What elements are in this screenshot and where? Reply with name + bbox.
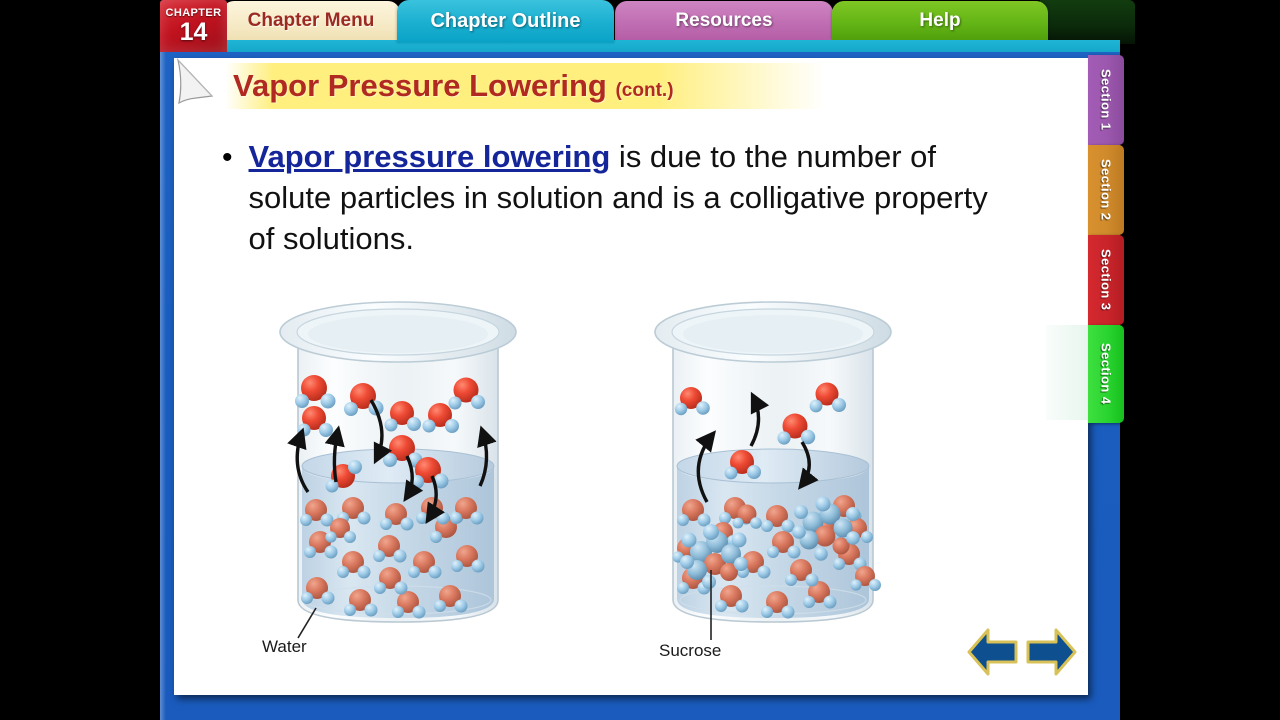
top-tab-bar: CHAPTER 14 Chapter Menu Chapter Outline … (160, 0, 1120, 44)
tab-help-label: Help (919, 10, 960, 32)
tab-chapter-menu[interactable]: Chapter Menu (222, 1, 400, 41)
bullet-keyword: Vapor pressure lowering (249, 139, 611, 174)
tab-resources-label: Resources (675, 10, 772, 32)
slide-navigation (966, 626, 1078, 678)
slide-title-block: Vapor Pressure Lowering (cont.) (225, 63, 825, 109)
bullet-text: Vapor pressure lowering is due to the nu… (249, 136, 1012, 259)
sidebar-item-section-3-label: Section 3 (1099, 249, 1114, 310)
page-title-suffix: (cont.) (615, 80, 673, 101)
water-label: Water (262, 637, 307, 656)
presentation-viewer: CHAPTER 14 Chapter Menu Chapter Outline … (0, 0, 1280, 720)
tab-help[interactable]: Help (832, 1, 1048, 41)
beaker-diagram-svg: Water (250, 270, 970, 670)
tab-resources[interactable]: Resources (615, 1, 833, 41)
sidebar-item-section-1-label: Section 1 (1099, 69, 1114, 130)
active-section-highlight-panel (1046, 325, 1090, 420)
left-beaker-group: Water (262, 302, 516, 656)
tabbar-right-filler (1040, 0, 1135, 44)
sidebar-item-section-1[interactable]: Section 1 (1088, 55, 1124, 145)
bullet-list-item: • Vapor pressure lowering is due to the … (222, 136, 1012, 259)
page-title-main: Vapor Pressure Lowering (233, 68, 607, 103)
previous-slide-button[interactable] (969, 630, 1016, 674)
sucrose-label: Sucrose (659, 641, 721, 660)
chapter-badge: CHAPTER 14 (160, 0, 227, 52)
bullet-marker-icon: • (222, 138, 233, 178)
chapter-badge-word: CHAPTER (166, 8, 222, 19)
page-curl-icon (176, 58, 216, 104)
next-slide-button[interactable] (1028, 630, 1075, 674)
sidebar-item-section-2[interactable]: Section 2 (1088, 145, 1124, 235)
tab-chapter-outline-label: Chapter Outline (430, 10, 580, 33)
chapter-badge-number: 14 (180, 20, 208, 45)
water-label-leader (298, 608, 316, 638)
right-beaker-group: Sucrose (655, 302, 891, 660)
sidebar-item-section-3[interactable]: Section 3 (1088, 235, 1124, 325)
sidebar-item-section-4-label: Section 4 (1099, 343, 1114, 404)
tab-chapter-menu-label: Chapter Menu (248, 10, 375, 32)
beaker-diagram: Water (250, 270, 970, 670)
section-tab-rail: Section 1 Section 2 Section 3 Section 4 (1088, 55, 1124, 425)
page-title: Vapor Pressure Lowering (cont.) (225, 63, 825, 114)
tab-chapter-outline[interactable]: Chapter Outline (397, 0, 614, 43)
sidebar-item-section-4[interactable]: Section 4 (1088, 325, 1124, 423)
sidebar-item-section-2-label: Section 2 (1099, 159, 1114, 220)
